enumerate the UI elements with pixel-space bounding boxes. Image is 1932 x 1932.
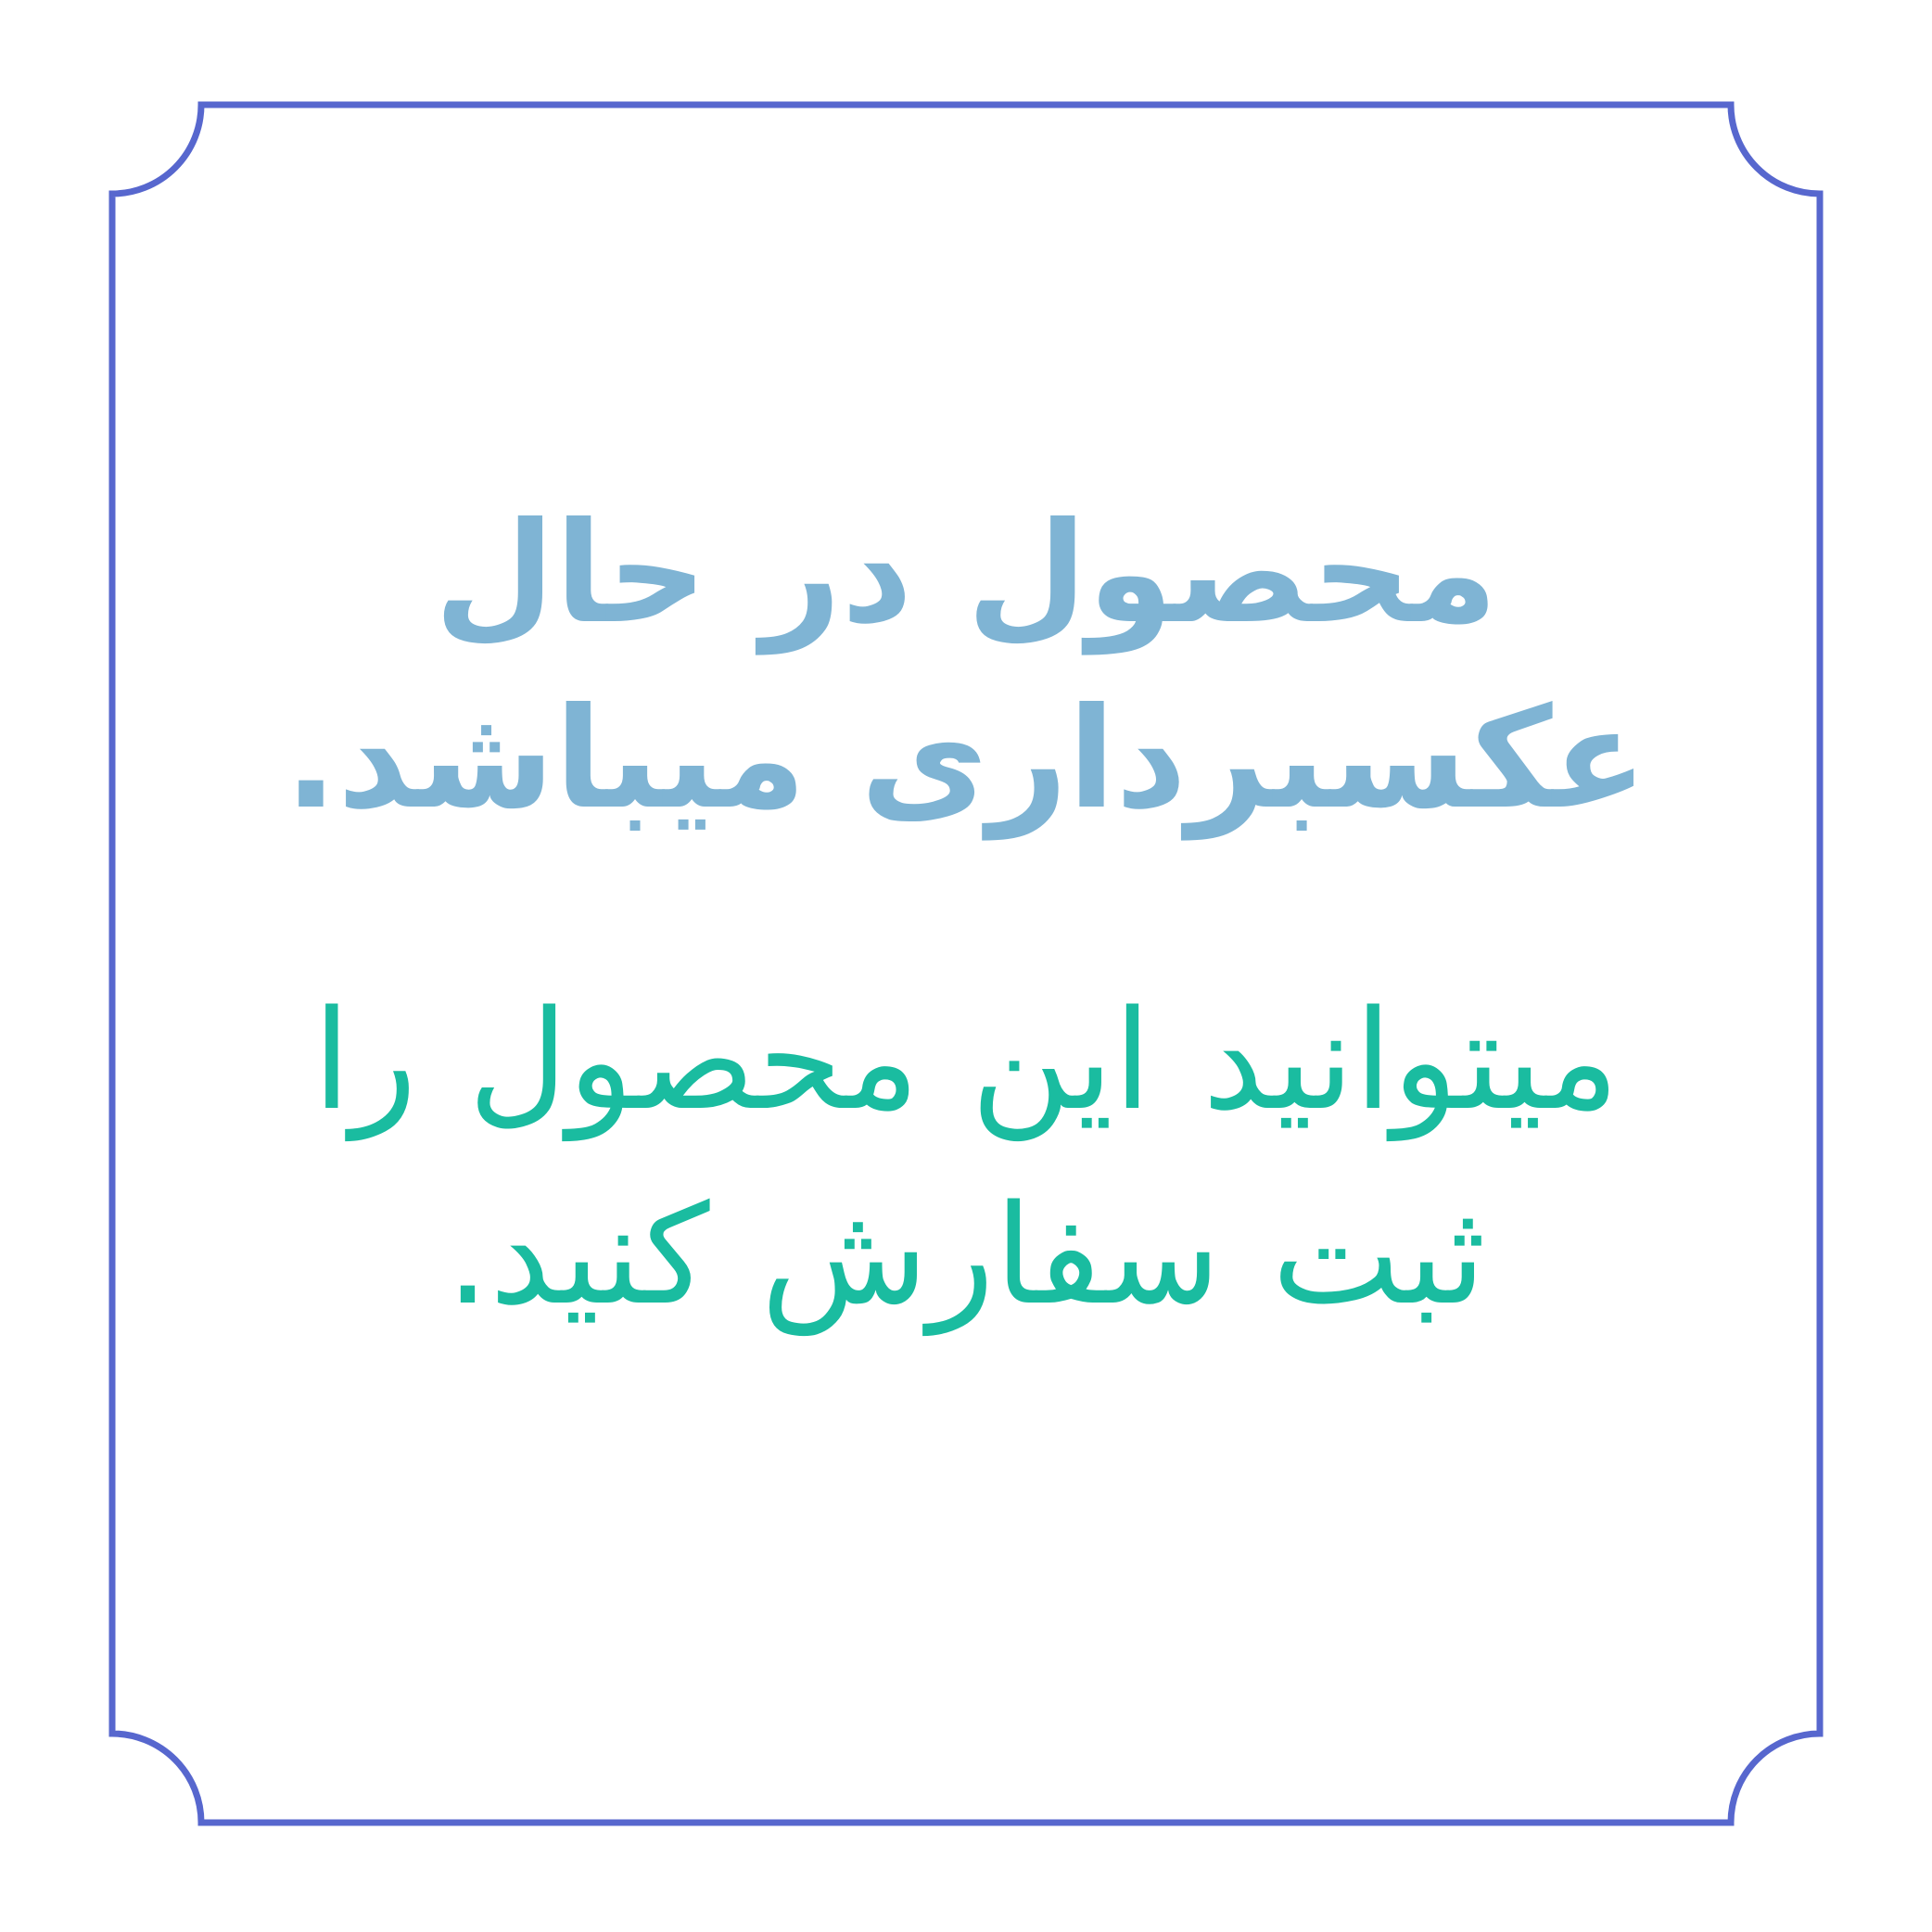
placeholder-text-stack: محصول در حال عکسبرداری میباشد. میتوانید … [0,482,1932,1353]
placeholder-headline: محصول در حال عکسبرداری میباشد. [76,482,1856,852]
product-placeholder-card: محصول در حال عکسبرداری میباشد. میتوانید … [0,0,1932,1932]
text-gap-spacer [0,852,1932,963]
placeholder-subline: میتوانید این محصول را ثبت سفارش کنید. [67,963,1865,1353]
